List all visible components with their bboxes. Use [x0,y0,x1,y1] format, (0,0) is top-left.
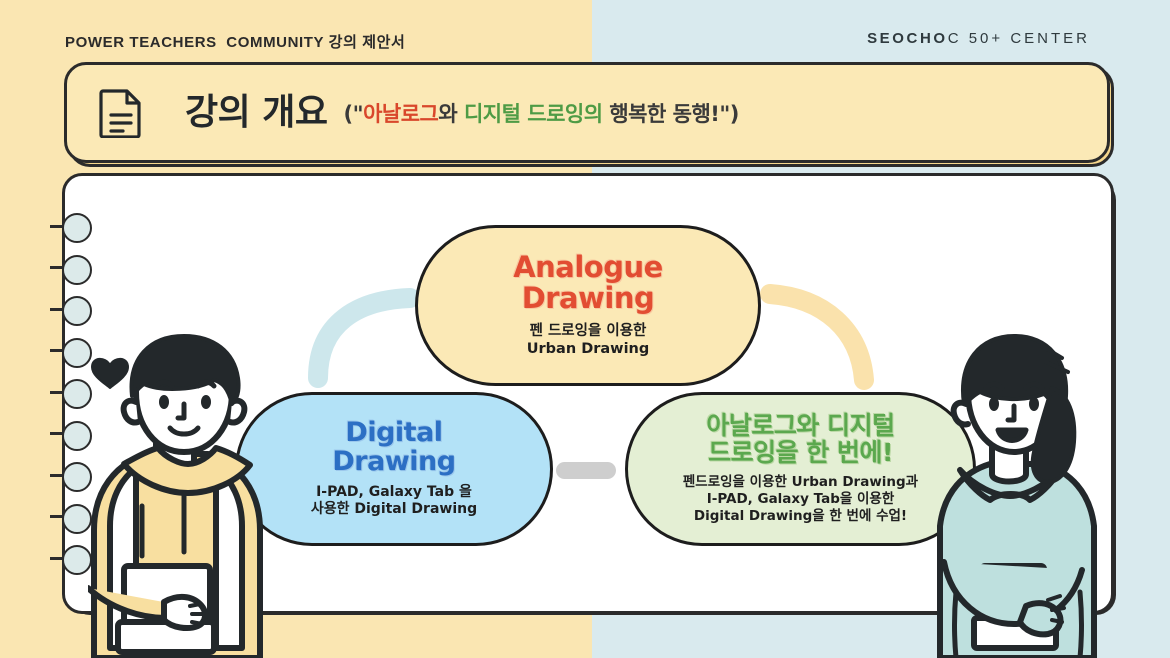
kicker-text: POWER TEACHERS COMMUNITY 강의 제안서 [65,31,405,52]
card-digital-title-line1: Digital [332,419,455,447]
card-digital-body-line1: I-PAD, Galaxy Tab 을 [311,484,477,502]
spiral-ring [62,213,92,243]
card-analogue-title-line1: Analogue [513,252,663,282]
card-digital-body-line2: 사용한 Digital Drawing [311,501,477,519]
arc-yellow-icon [752,272,882,392]
card-digital-body: I-PAD, Galaxy Tab 을 사용한 Digital Drawing [311,484,477,519]
connector-bar [556,462,616,479]
subtitle-analogue: 아날로그 [363,102,438,126]
card-analogue-title: Analogue Drawing [513,252,663,313]
card-both-body: 펜드로잉을 이용한 Urban Drawing과 I-PAD, Galaxy T… [683,474,918,525]
student-female-illustration [930,330,1115,658]
brand-logo: SEOCHOC 50+ CENTER [867,30,1090,47]
subtitle-rest: 행복한 동행!") [603,102,739,126]
card-analogue-title-line2: Drawing [513,283,663,313]
card-both-body-line2: I-PAD, Galaxy Tab을 이용한 [683,491,918,508]
card-both-body-line3: Digital Drawing을 한 번에 수업! [683,508,918,525]
subtitle-open: (" [344,102,364,126]
arc-blue-icon [300,278,430,393]
heart-icon [92,359,128,388]
card-analogue-body-line2: Urban Drawing [527,340,650,358]
spiral-ring [62,255,92,285]
card-analogue-body-line1: 펜 드로잉을 이용한 [527,322,650,340]
card-both-title-line2: 드로잉을 한 번에! [706,440,894,466]
card-both[interactable]: 아날로그와 디지털 드로잉을 한 번에! 펜드로잉을 이용한 Urban Dra… [625,392,976,546]
card-both-title: 아날로그와 디지털 드로잉을 한 번에! [706,413,894,466]
document-icon [99,88,143,138]
card-digital-title: Digital Drawing [332,419,455,476]
card-digital-title-line2: Drawing [332,448,455,476]
spiral-ring [62,296,92,326]
brand-rest: C 50+ CENTER [948,30,1090,47]
brand-bold: SEOCHO [867,30,948,47]
slide-canvas: POWER TEACHERS COMMUNITY 강의 제안서 SEOCHOC … [0,0,1170,658]
subtitle-digital: 디지털 드로잉의 [464,102,603,126]
card-analogue[interactable]: Analogue Drawing 펜 드로잉을 이용한 Urban Drawin… [415,225,761,386]
card-both-body-line1: 펜드로잉을 이용한 Urban Drawing과 [683,474,918,491]
card-analogue-body: 펜 드로잉을 이용한 Urban Drawing [527,322,650,358]
card-both-title-line1: 아날로그와 디지털 [706,413,894,439]
page-title: 강의 개요 [185,95,328,131]
header-card: 강의 개요 ("아날로그와 디지털 드로잉의 행복한 동행!") [64,62,1110,163]
page-subtitle: ("아날로그와 디지털 드로잉의 행복한 동행!") [344,98,739,128]
subtitle-mid: 와 [438,102,464,126]
student-male-illustration [88,330,303,658]
